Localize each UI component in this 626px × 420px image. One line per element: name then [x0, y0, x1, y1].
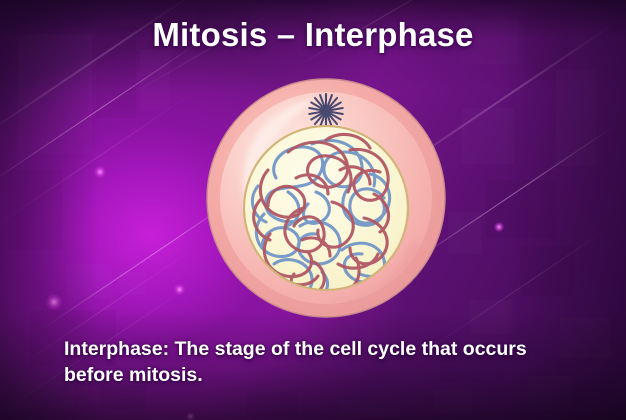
caption-text: Interphase: The stage of the cell cycle …: [64, 336, 576, 388]
cell-diagram: [204, 74, 448, 320]
interphase-cell-illustration: [204, 74, 448, 320]
page-title: Mitosis – Interphase: [0, 16, 626, 54]
infographic-poster: Mitosis – Interphase: [0, 0, 626, 420]
